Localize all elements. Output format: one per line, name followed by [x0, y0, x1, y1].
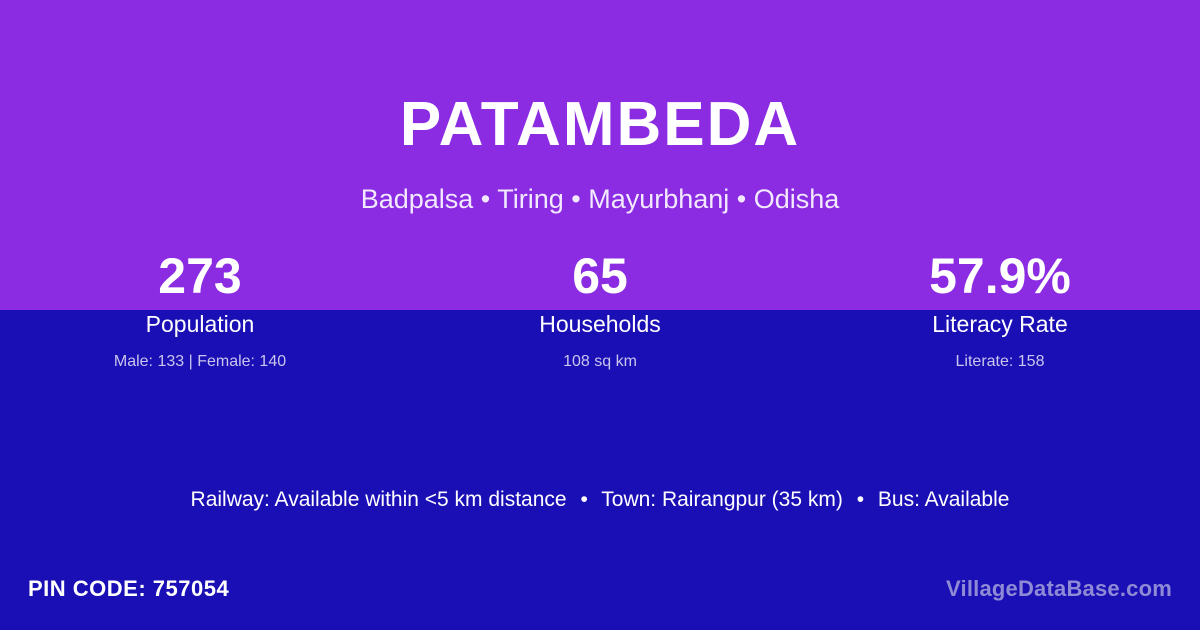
- facility-town: Town: Rairangpur (35 km): [601, 488, 843, 511]
- facility-separator: •: [572, 488, 595, 511]
- facility-separator: •: [849, 488, 872, 511]
- facility-bus: Bus: Available: [878, 488, 1010, 511]
- stat-population: 273 Population Male: 133 | Female: 140: [0, 246, 400, 374]
- stat-label: Households: [400, 308, 800, 340]
- stat-value: 57.9%: [800, 246, 1200, 306]
- pin-code: PIN CODE: 757054: [28, 576, 229, 602]
- stat-label: Population: [0, 308, 400, 340]
- facilities-line: Railway: Available within <5 km distance…: [0, 484, 1200, 516]
- site-brand: VillageDataBase.com: [946, 576, 1172, 602]
- stat-value: 273: [0, 246, 400, 306]
- page-title: PATAMBEDA: [0, 88, 1200, 162]
- stat-households: 65 Households 108 sq km: [400, 246, 800, 374]
- stat-label: Literacy Rate: [800, 308, 1200, 340]
- village-info-card: PATAMBEDA Badpalsa • Tiring • Mayurbhanj…: [0, 0, 1200, 630]
- stat-sublabel: Literate: 158: [800, 350, 1200, 374]
- breadcrumb: Badpalsa • Tiring • Mayurbhanj • Odisha: [0, 182, 1200, 216]
- stats-row: 273 Population Male: 133 | Female: 140 6…: [0, 246, 1200, 374]
- stat-sublabel: Male: 133 | Female: 140: [0, 350, 400, 374]
- stat-literacy-rate: 57.9% Literacy Rate Literate: 158: [800, 246, 1200, 374]
- facility-railway: Railway: Available within <5 km distance: [191, 488, 567, 511]
- stat-sublabel: 108 sq km: [400, 350, 800, 374]
- stat-value: 65: [400, 246, 800, 306]
